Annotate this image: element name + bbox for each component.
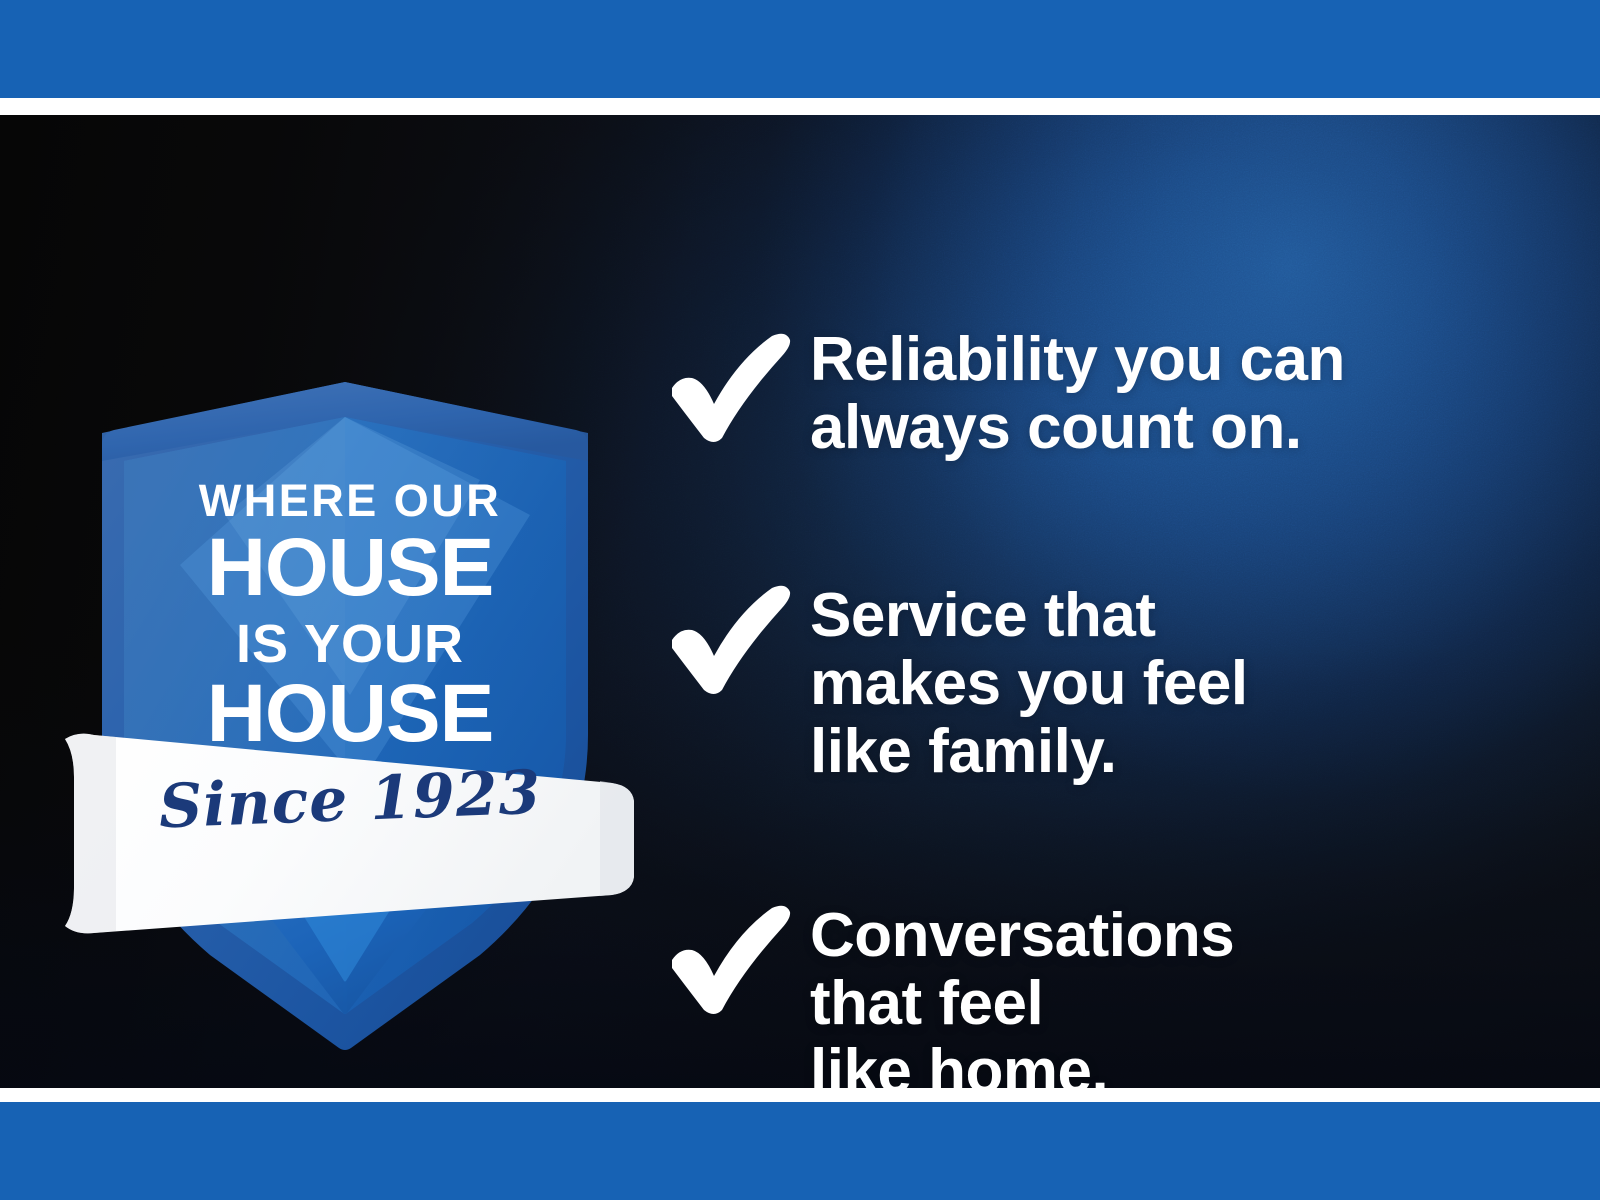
shield-badge: Where Our House Is Your House Since 1923 [60,265,640,1065]
list-item-label: Reliability you can always count on. [810,326,1345,462]
benefits-list: Reliability you can always count on. Ser… [660,230,1540,1088]
poster-stage: Where Our House Is Your House Since 1923… [0,115,1600,1088]
list-item: Reliability you can always count on. [660,326,1345,462]
list-item-label: Service that makes you feel like family. [810,582,1248,787]
promo-poster: Where Our House Is Your House Since 1923… [0,0,1600,1200]
top-brand-bar [0,0,1600,98]
shield-graphic [60,265,640,1065]
top-white-divider [0,98,1600,115]
bottom-white-divider [0,1088,1600,1102]
list-item: Service that makes you feel like family. [660,578,1248,787]
bottom-brand-bar [0,1102,1600,1200]
check-icon [660,578,810,698]
check-icon [660,326,810,446]
list-item-label: Conversations that feel like home. [810,902,1234,1088]
list-item: Conversations that feel like home. [660,898,1234,1088]
check-icon [660,898,810,1018]
